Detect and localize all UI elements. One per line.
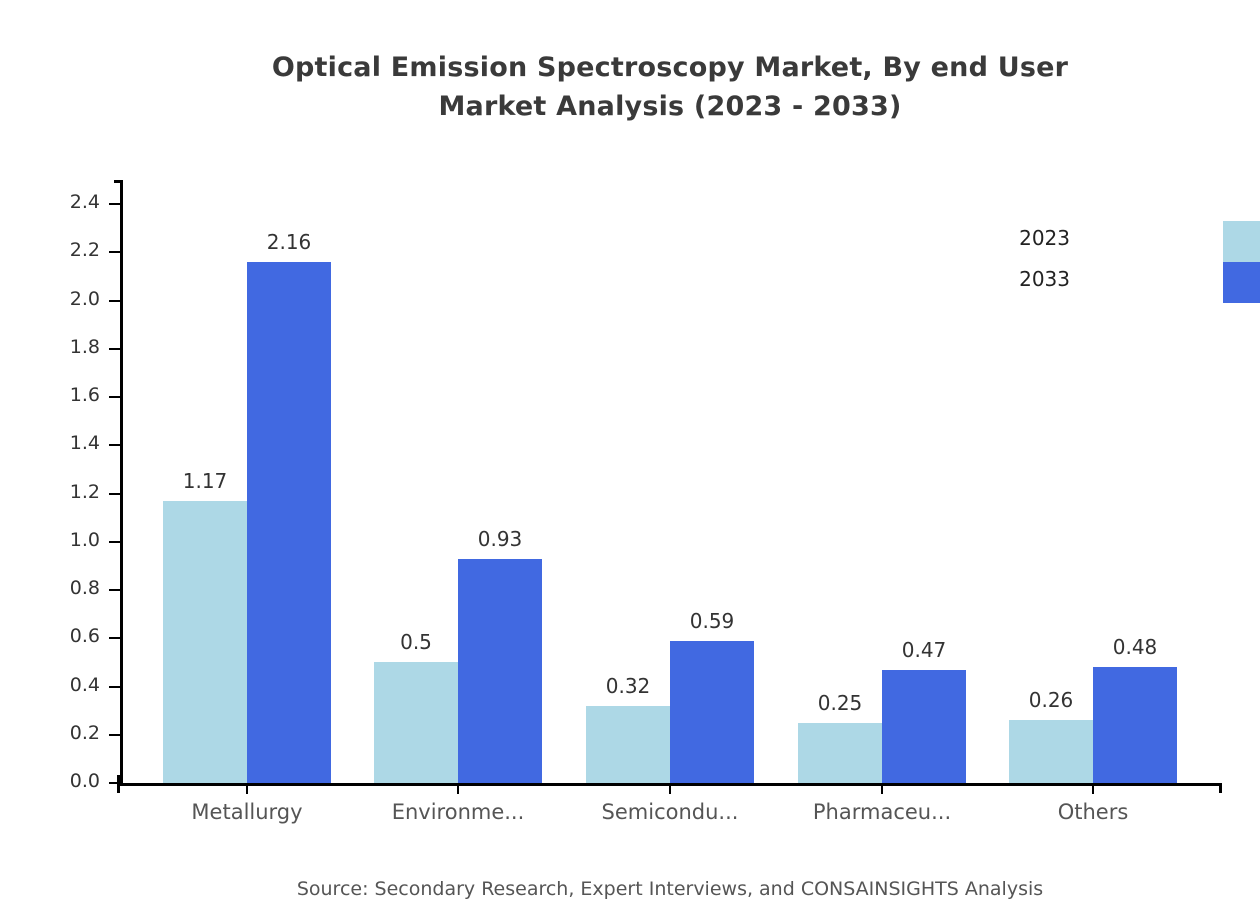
y-axis-top-cap: [114, 180, 123, 183]
y-tick-mark: 0.2: [109, 734, 120, 736]
x-tick-mark: [457, 783, 459, 794]
bar-2033-others[interactable]: [1093, 667, 1177, 783]
bar-value-label: 0.59: [690, 609, 735, 633]
chart-title: Optical Emission Spectroscopy Market, By…: [0, 48, 1260, 126]
y-tick-mark: 2.0: [109, 300, 120, 302]
bar-value-label: 0.5: [400, 630, 432, 654]
chart-title-line-2: Market Analysis (2023 - 2033): [0, 87, 1260, 126]
y-tick-label: 2.0: [70, 288, 100, 310]
y-axis-zero-cap: [117, 775, 120, 793]
y-tick-label: 0.8: [70, 577, 100, 599]
bar-2023-pharmaceu[interactable]: [798, 723, 882, 783]
legend-label-2023: 2023: [1019, 226, 1070, 250]
x-tick-label: Pharmaceu...: [813, 800, 951, 824]
y-tick-label: 0.2: [70, 722, 100, 744]
chart-source-note: Source: Secondary Research, Expert Inter…: [0, 878, 1260, 900]
x-tick-label: Metallurgy: [191, 800, 302, 824]
x-tick-mark: [246, 783, 248, 794]
bar-2033-environme[interactable]: [458, 559, 542, 783]
legend-swatch-2023: [1223, 221, 1260, 262]
y-tick-label: 0.0: [70, 770, 100, 792]
y-tick-label: 1.2: [70, 481, 100, 503]
y-tick-mark: 1.0: [109, 541, 120, 543]
x-tick-mark: [1092, 783, 1094, 794]
bar-2033-pharmaceu[interactable]: [882, 670, 966, 783]
y-tick-label: 1.4: [70, 432, 100, 454]
bar-value-label: 0.48: [1113, 635, 1158, 659]
y-tick-label: 0.4: [70, 674, 100, 696]
bar-value-label: 0.25: [818, 691, 863, 715]
x-tick-label: Others: [1058, 800, 1129, 824]
y-tick-mark: 0.0: [109, 782, 120, 784]
y-tick-label: 2.4: [70, 191, 100, 213]
x-tick-label: Semicondu...: [602, 800, 739, 824]
bar-value-label: 0.26: [1029, 688, 1074, 712]
y-tick-mark: 1.4: [109, 444, 120, 446]
bar-2023-others[interactable]: [1009, 720, 1093, 783]
bar-2023-environme[interactable]: [374, 662, 458, 783]
y-tick-label: 1.8: [70, 336, 100, 358]
y-tick-label: 1.6: [70, 384, 100, 406]
y-tick-mark: 1.8: [109, 348, 120, 350]
bar-chart-figure: Optical Emission Spectroscopy Market, By…: [0, 0, 1260, 920]
y-tick-label: 1.0: [70, 529, 100, 551]
y-tick-mark: 2.2: [109, 251, 120, 253]
y-tick-mark: 1.6: [109, 396, 120, 398]
y-tick-mark: 2.4: [109, 203, 120, 205]
y-tick-mark: 0.6: [109, 637, 120, 639]
bar-2033-metallurgy[interactable]: [247, 262, 331, 783]
y-axis-spine: [120, 180, 123, 783]
bar-value-label: 0.47: [902, 638, 947, 662]
x-axis-right-cap: [1219, 783, 1222, 793]
y-tick-mark: 1.2: [109, 493, 120, 495]
y-tick-label: 0.6: [70, 625, 100, 647]
bar-value-label: 0.93: [478, 527, 523, 551]
bar-value-label: 2.16: [267, 230, 312, 254]
bar-value-label: 1.17: [183, 469, 228, 493]
bar-2023-semicondu[interactable]: [586, 706, 670, 783]
x-tick-mark: [881, 783, 883, 794]
x-tick-label: Environme...: [392, 800, 525, 824]
x-tick-mark: [669, 783, 671, 794]
y-tick-mark: 0.4: [109, 686, 120, 688]
bar-value-label: 0.32: [606, 674, 651, 698]
y-tick-label: 2.2: [70, 239, 100, 261]
y-tick-mark: 0.8: [109, 589, 120, 591]
bar-2033-semicondu[interactable]: [670, 641, 754, 783]
bar-2023-metallurgy[interactable]: [163, 501, 247, 783]
x-axis-spine: [120, 783, 1222, 786]
legend-label-2033: 2033: [1019, 267, 1070, 291]
chart-title-line-1: Optical Emission Spectroscopy Market, By…: [0, 48, 1260, 87]
legend-swatch-2033: [1223, 262, 1260, 303]
